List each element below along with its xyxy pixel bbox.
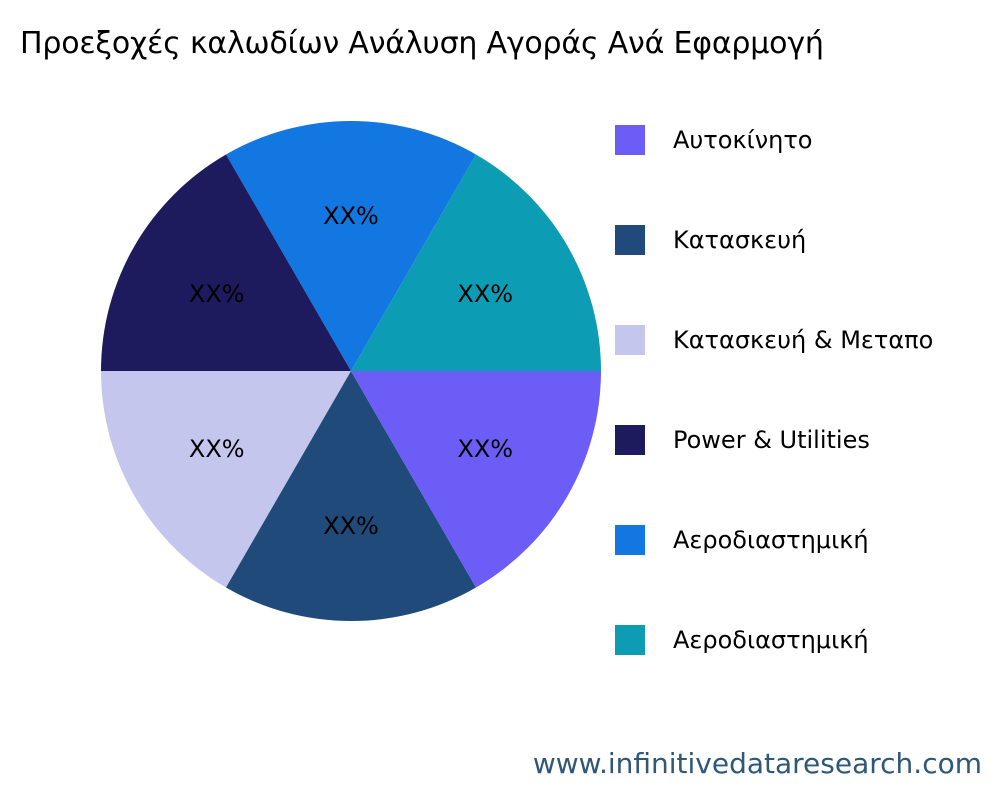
legend-color-swatch bbox=[615, 425, 645, 455]
legend-item-label: Αεροδιαστημική bbox=[673, 626, 869, 654]
pie-slice-group bbox=[101, 121, 601, 621]
legend-color-swatch bbox=[615, 125, 645, 155]
legend-color-swatch bbox=[615, 625, 645, 655]
pie-chart-svg bbox=[101, 121, 601, 621]
legend-item[interactable]: Κατασκευή bbox=[615, 220, 806, 260]
legend-item-label: Αεροδιαστημική bbox=[673, 526, 869, 554]
legend-item[interactable]: Power & Utilities bbox=[615, 420, 870, 460]
source-url: www.infinitivedataresearch.com bbox=[533, 747, 982, 780]
legend-item-label: Κατασκευή & Μεταπο bbox=[673, 326, 933, 354]
legend-item-label: Power & Utilities bbox=[673, 426, 870, 454]
chart-legend: ΑυτοκίνητοΚατασκευήΚατασκευή & ΜεταποPow… bbox=[615, 120, 1000, 680]
legend-item[interactable]: Αυτοκίνητο bbox=[615, 120, 812, 160]
legend-color-swatch bbox=[615, 225, 645, 255]
legend-color-swatch bbox=[615, 325, 645, 355]
legend-color-swatch bbox=[615, 525, 645, 555]
legend-item[interactable]: Αεροδιαστημική bbox=[615, 620, 869, 660]
legend-item[interactable]: Κατασκευή & Μεταπο bbox=[615, 320, 933, 360]
legend-item-label: Κατασκευή bbox=[673, 226, 806, 254]
legend-item[interactable]: Αεροδιαστημική bbox=[615, 520, 869, 560]
legend-item-label: Αυτοκίνητο bbox=[673, 126, 812, 154]
